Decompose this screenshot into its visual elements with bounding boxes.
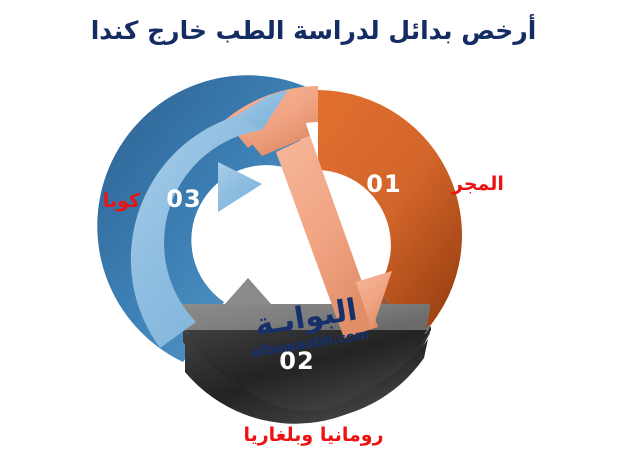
segment-01-label: المجر — [452, 173, 572, 195]
cycle-diagram: 03 01 02 البوابـة albawaabh.com — [0, 72, 627, 432]
infographic-page: أرخص بدائل لدراسة الطب خارج كندا — [0, 0, 627, 476]
segment-02-label: رومانيا وبلغاريا — [0, 424, 627, 446]
segment-03-number: 03 — [166, 185, 201, 213]
page-title: أرخص بدائل لدراسة الطب خارج كندا — [0, 14, 627, 48]
segment-03-label: كوبا — [30, 190, 140, 212]
segment-02-number: 02 — [279, 347, 314, 375]
cycle-diagram-svg: 03 01 02 — [0, 72, 627, 432]
segment-01-number: 01 — [366, 170, 401, 198]
